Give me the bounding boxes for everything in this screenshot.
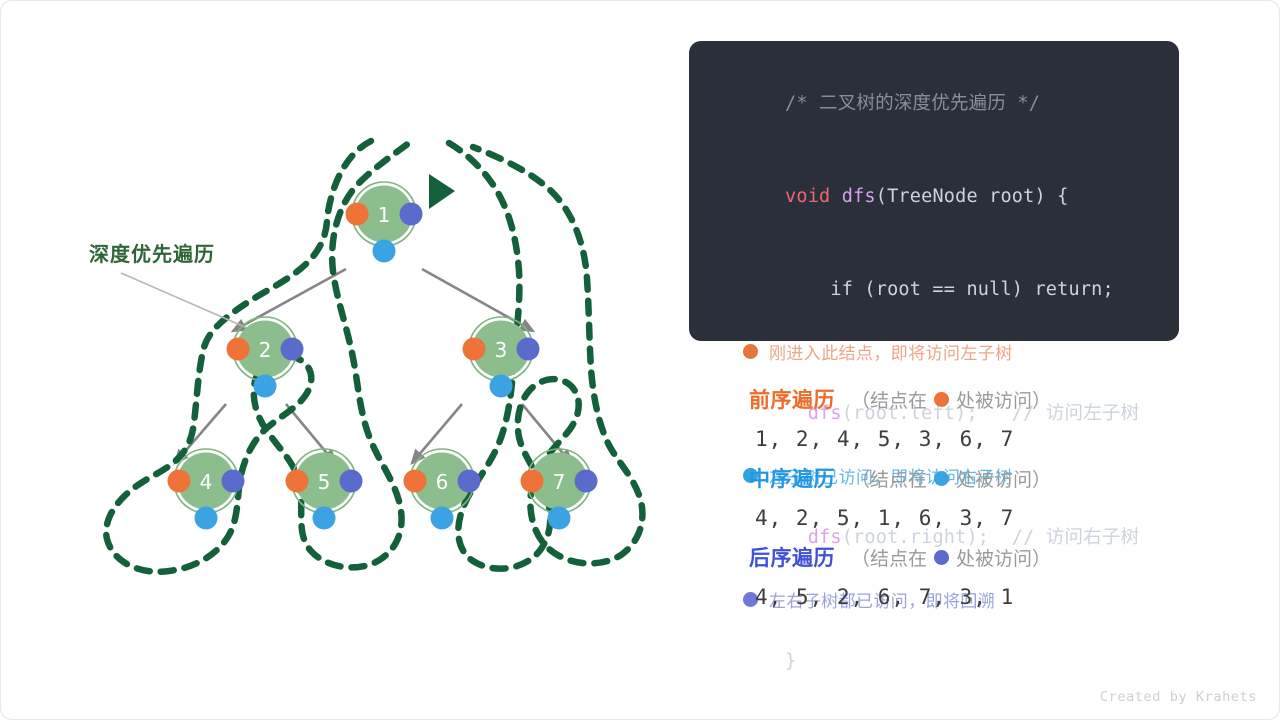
result-heading: 中序遍历 （结点在 处被访问） (749, 463, 1169, 493)
condition-suffix: 处被访问） (956, 465, 1051, 492)
space-token (830, 186, 841, 207)
code-block: /* 二叉树的深度优先遍历 */ void dfs(TreeNode root)… (689, 41, 1179, 341)
tree-node-1[interactable]: 1 (346, 182, 423, 263)
marker-inorder-icon (548, 507, 571, 530)
marker-preorder-icon (168, 470, 191, 493)
close-brace-token: } (785, 651, 796, 672)
node-label: 1 (378, 203, 391, 227)
postorder-dot-icon (934, 550, 949, 565)
credit-text: Created by Krahets (1100, 689, 1257, 705)
marker-inorder-icon (313, 507, 336, 530)
marker-preorder-icon (227, 338, 250, 361)
result-heading: 后序遍历 （结点在 处被访问） (749, 542, 1169, 572)
condition-prefix: （结点在 (851, 544, 927, 571)
tree-svg: 深度优先遍历 1 2 (41, 31, 681, 611)
marker-preorder-icon (286, 470, 309, 493)
marker-preorder-icon (463, 338, 486, 361)
binary-tree-diagram: 深度优先遍历 1 2 (41, 31, 681, 611)
result-heading: 前序遍历 （结点在 处被访问） (749, 384, 1169, 414)
figure-root: 深度优先遍历 1 2 (0, 0, 1280, 720)
traversal-results: 前序遍历 （结点在 处被访问） 1, 2, 4, 5, 3, 6, 7 中序遍历… (749, 384, 1169, 621)
marker-preorder-icon (346, 203, 369, 226)
condition-suffix: 处被访问） (956, 386, 1051, 413)
condition-suffix: 处被访问） (956, 544, 1051, 571)
node-label: 7 (553, 470, 566, 494)
code-line-nullcheck: if (root == null) return; (717, 243, 1151, 336)
marker-preorder-icon (521, 470, 544, 493)
annotation-leader-line (121, 273, 254, 331)
code-note-preorder: 刚进入此结点，即将访问左子树 (717, 336, 1151, 367)
preorder-note-text: 刚进入此结点，即将访问左子树 (769, 339, 1013, 364)
annotation-label: 深度优先遍历 (89, 242, 215, 266)
node-label: 5 (318, 470, 331, 494)
result-inorder: 中序遍历 （结点在 处被访问） 4, 2, 5, 1, 6, 3, 7 (749, 463, 1169, 530)
result-condition: （结点在 处被访问） (851, 386, 1051, 413)
preorder-dot-icon (934, 392, 949, 407)
condition-prefix: （结点在 (851, 465, 927, 492)
signature-rest-token: (TreeNode root) { (876, 186, 1069, 207)
marker-postorder-icon (400, 203, 423, 226)
marker-preorder-icon (404, 470, 427, 493)
code-line-signature: void dfs(TreeNode root) { (717, 150, 1151, 243)
marker-postorder-icon (340, 470, 363, 493)
marker-inorder-icon (490, 375, 513, 398)
marker-postorder-icon (458, 470, 481, 493)
code-line-close-brace: } (717, 615, 1151, 708)
result-title: 中序遍历 (749, 463, 835, 493)
result-preorder: 前序遍历 （结点在 处被访问） 1, 2, 4, 5, 3, 6, 7 (749, 384, 1169, 451)
marker-postorder-icon (517, 338, 540, 361)
result-sequence: 4, 5, 2, 6, 7, 3, 1 (755, 585, 1169, 609)
marker-postorder-icon (575, 470, 598, 493)
marker-postorder-icon (222, 470, 245, 493)
result-title: 后序遍历 (749, 542, 835, 572)
keyword-token: void (785, 186, 830, 207)
node-label: 6 (436, 470, 449, 494)
code-line-comment: /* 二叉树的深度优先遍历 */ (717, 57, 1151, 150)
result-condition: （结点在 处被访问） (851, 465, 1051, 492)
marker-postorder-icon (281, 338, 304, 361)
marker-inorder-icon (254, 375, 277, 398)
inorder-dot-icon (934, 471, 949, 486)
marker-inorder-icon (431, 507, 454, 530)
node-label: 2 (259, 338, 272, 362)
nullcheck-token: if (root == null) return; (785, 279, 1114, 300)
node-label: 4 (200, 470, 213, 494)
start-play-icon (429, 174, 455, 209)
function-token: dfs (842, 186, 876, 207)
node-label: 3 (495, 338, 508, 362)
tree-node-5[interactable]: 5 (286, 449, 363, 530)
result-condition: （结点在 处被访问） (851, 544, 1051, 571)
result-sequence: 4, 2, 5, 1, 6, 3, 7 (755, 506, 1169, 530)
result-title: 前序遍历 (749, 384, 835, 414)
condition-prefix: （结点在 (851, 386, 927, 413)
result-postorder: 后序遍历 （结点在 处被访问） 4, 5, 2, 6, 7, 3, 1 (749, 542, 1169, 609)
preorder-dot-icon (743, 344, 758, 359)
marker-inorder-icon (195, 507, 218, 530)
marker-inorder-icon (373, 240, 396, 263)
result-sequence: 1, 2, 4, 5, 3, 6, 7 (755, 427, 1169, 451)
comment-token: /* 二叉树的深度优先遍历 */ (785, 93, 1040, 114)
